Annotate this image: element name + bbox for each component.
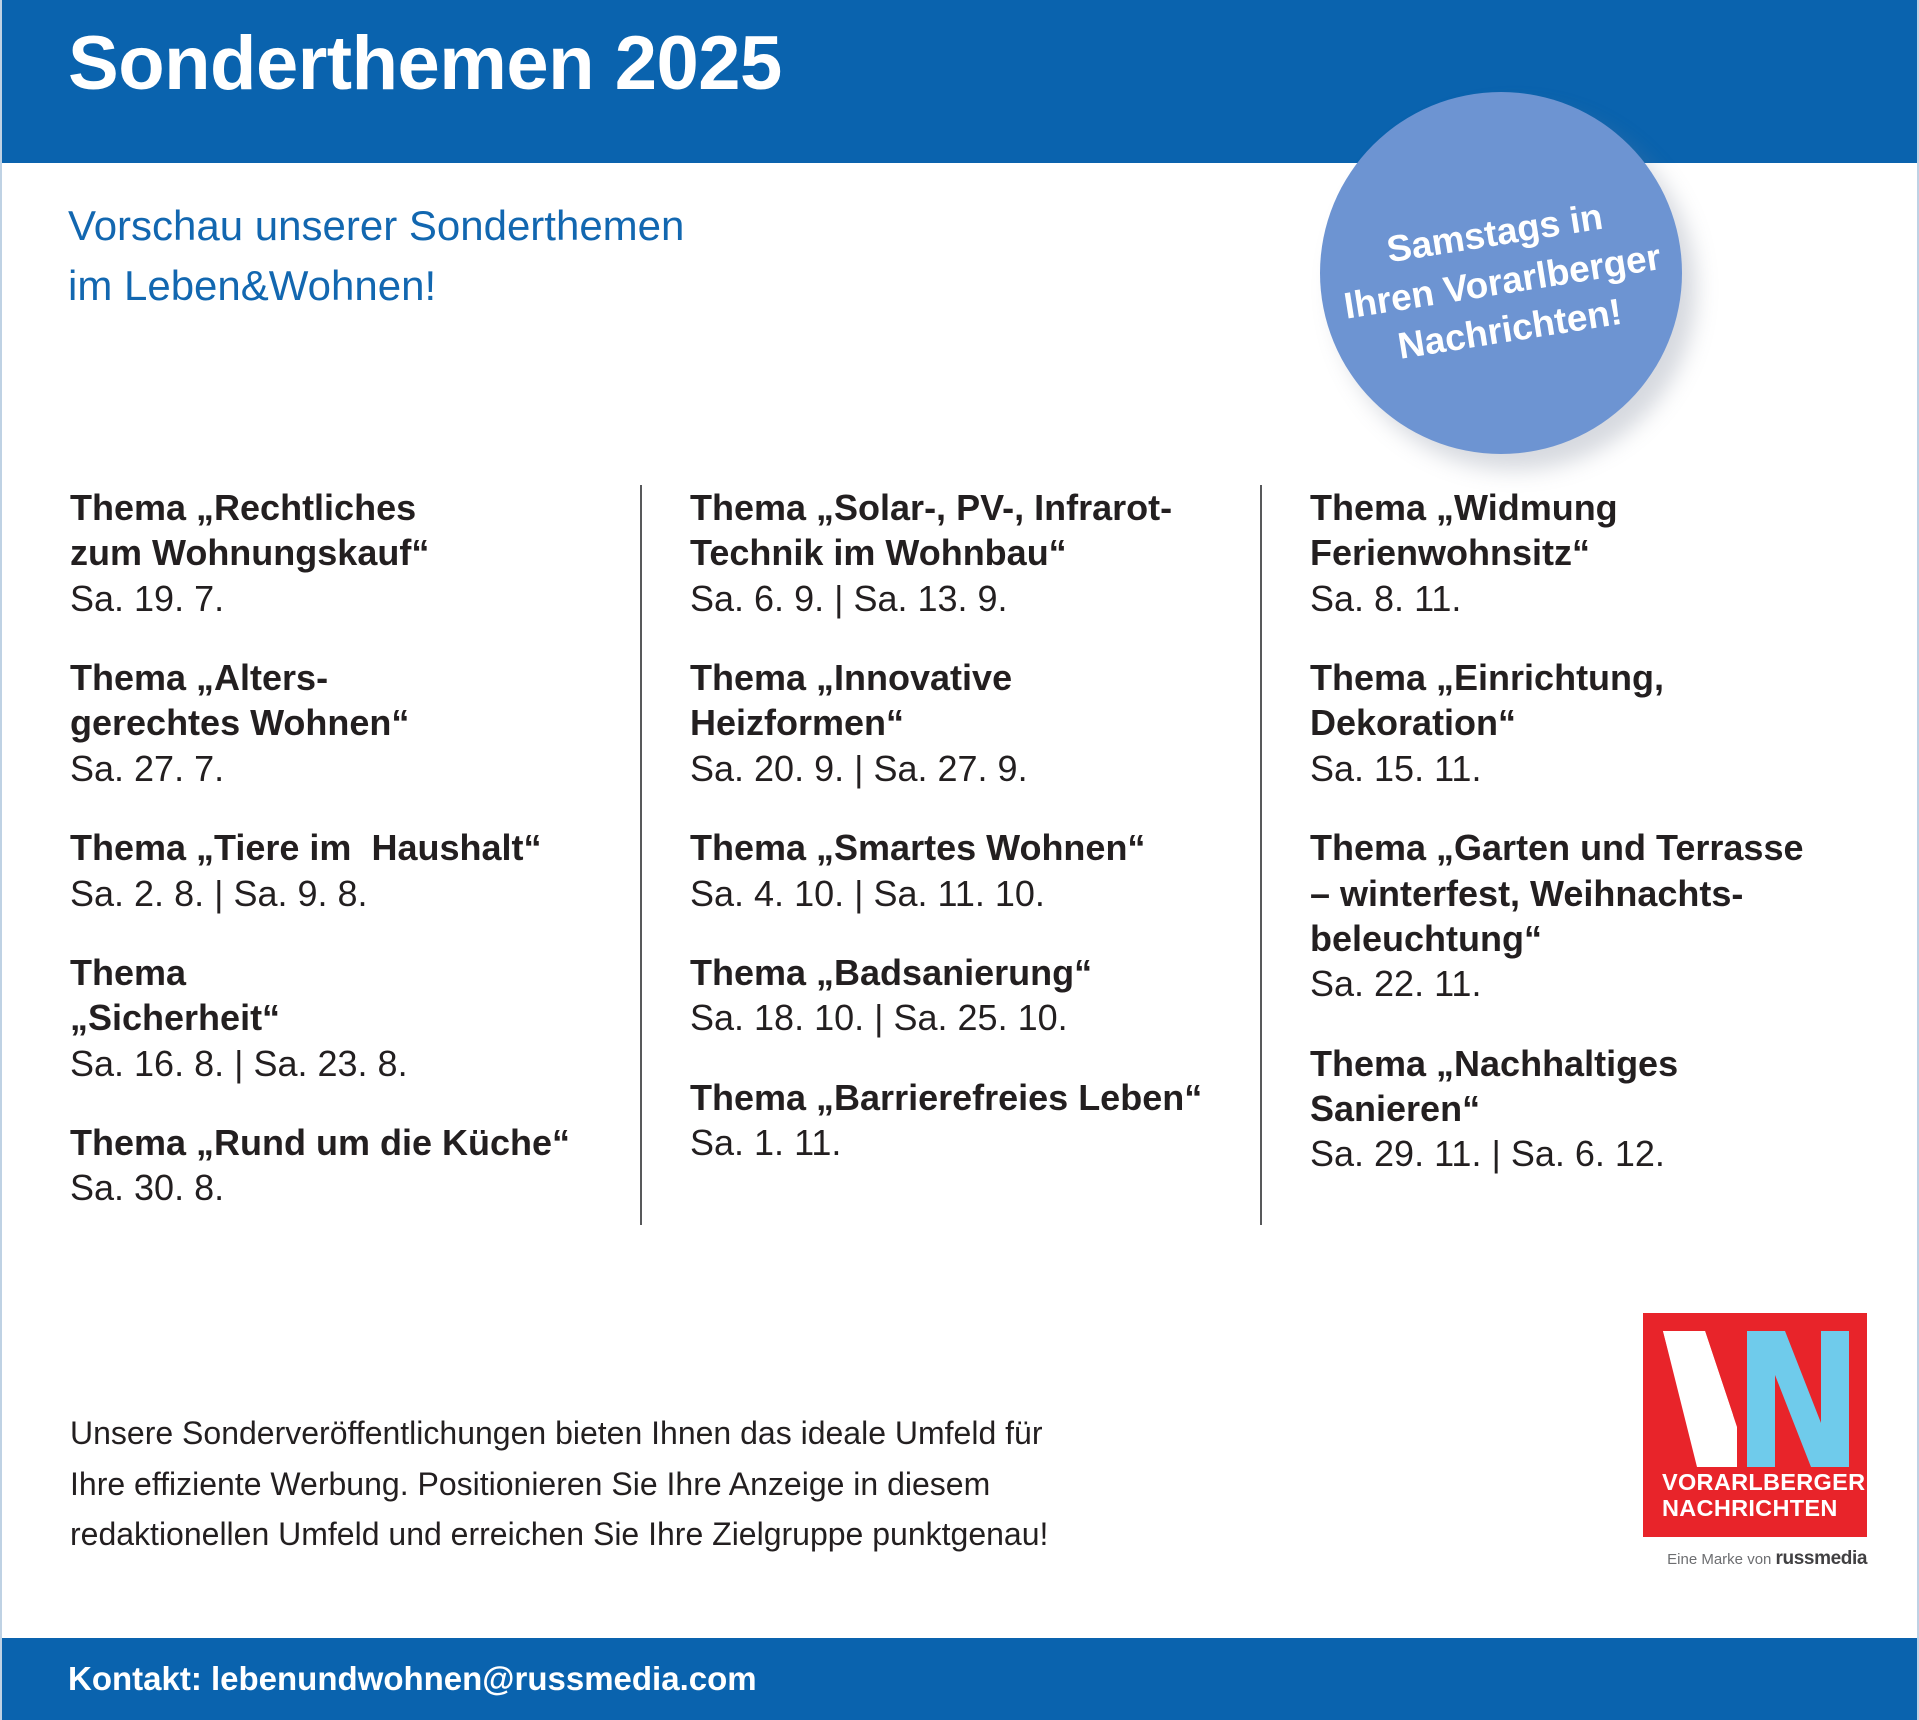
topics-grid: Thema „Rechtliches zum Wohnungskauf“ Sa.… <box>0 485 1919 1230</box>
topic-date: Sa. 18. 10. | Sa. 25. 10. <box>690 995 1235 1040</box>
subtitle: Vorschau unserer Sonderthemen im Leben&W… <box>68 196 684 315</box>
topic-item: Thema „Rund um die Küche“ Sa. 30. 8. <box>70 1120 615 1211</box>
topic-date: Sa. 19. 7. <box>70 576 615 621</box>
russmedia-tagline: Eine Marke von russmedia <box>1643 1548 1867 1570</box>
column-divider-2 <box>1260 485 1262 1225</box>
topic-title: Thema „Innovative Heizformen“ <box>690 655 1235 746</box>
topic-date: Sa. 15. 11. <box>1310 746 1880 791</box>
topic-column-1: Thema „Rechtliches zum Wohnungskauf“ Sa.… <box>70 485 615 1211</box>
promo-line-2: Ihre effiziente Werbung. Positionieren S… <box>70 1459 1230 1510</box>
topic-item: Thema „Nachhaltiges Sanieren“ Sa. 29. 11… <box>1310 1041 1880 1177</box>
topic-item: Thema „Innovative Heizformen“ Sa. 20. 9.… <box>690 655 1235 791</box>
topic-title: Thema „Solar-, PV-, Infrarot- Technik im… <box>690 485 1235 576</box>
topic-item: Thema „Widmung Ferienwohnsitz“ Sa. 8. 11… <box>1310 485 1880 621</box>
topic-item: Thema „Solar-, PV-, Infrarot- Technik im… <box>690 485 1235 621</box>
promo-line-3: redaktionellen Umfeld und erreichen Sie … <box>70 1509 1230 1560</box>
saturday-badge: Samstags in Ihren Vorarlberger Nachricht… <box>1320 92 1682 454</box>
topic-title: Thema „Alters- gerechtes Wohnen“ <box>70 655 615 746</box>
topic-title: Thema „Badsanierung“ <box>690 950 1235 995</box>
vn-logo: VORARLBERGER NACHRICHTEN Eine Marke von … <box>1643 1313 1867 1570</box>
topic-item: Thema „Garten und Terrasse – winterfest,… <box>1310 825 1880 1006</box>
topic-item: Thema „Tiere im Haushalt“ Sa. 2. 8. | Sa… <box>70 825 615 916</box>
topic-date: Sa. 20. 9. | Sa. 27. 9. <box>690 746 1235 791</box>
topic-title: Thema „Widmung Ferienwohnsitz“ <box>1310 485 1880 576</box>
topic-date: Sa. 1. 11. <box>690 1120 1235 1165</box>
topic-title: Thema „Sicherheit“ <box>70 950 615 1041</box>
topic-date: Sa. 2. 8. | Sa. 9. 8. <box>70 871 615 916</box>
sonderthemen-poster: Sonderthemen 2025 Vorschau unserer Sonde… <box>0 0 1919 1720</box>
promo-line-1: Unsere Sonderveröffentlichungen bieten I… <box>70 1408 1230 1459</box>
topic-date: Sa. 8. 11. <box>1310 576 1880 621</box>
promo-paragraph: Unsere Sonderveröffentlichungen bieten I… <box>70 1408 1230 1560</box>
topic-title: Thema „Rechtliches zum Wohnungskauf“ <box>70 485 615 576</box>
footer-bar: Kontakt: lebenundwohnen@russmedia.com <box>0 1638 1919 1720</box>
topic-date: Sa. 29. 11. | Sa. 6. 12. <box>1310 1131 1880 1176</box>
topic-item: Thema „Badsanierung“ Sa. 18. 10. | Sa. 2… <box>690 950 1235 1041</box>
topic-item: Thema „Rechtliches zum Wohnungskauf“ Sa.… <box>70 485 615 621</box>
topic-date: Sa. 6. 9. | Sa. 13. 9. <box>690 576 1235 621</box>
topic-title: Thema „Rund um die Küche“ <box>70 1120 615 1165</box>
topic-column-2: Thema „Solar-, PV-, Infrarot- Technik im… <box>690 485 1235 1165</box>
topic-title: Thema „Barrierefreies Leben“ <box>690 1075 1235 1120</box>
vn-logo-square: VORARLBERGER NACHRICHTEN <box>1643 1313 1867 1537</box>
topic-date: Sa. 30. 8. <box>70 1165 615 1210</box>
topic-title: Thema „Einrichtung, Dekoration“ <box>1310 655 1880 746</box>
vn-logo-wordmark: VORARLBERGER NACHRICHTEN <box>1662 1469 1852 1522</box>
topic-item: Thema „Einrichtung, Dekoration“ Sa. 15. … <box>1310 655 1880 791</box>
topic-date: Sa. 4. 10. | Sa. 11. 10. <box>690 871 1235 916</box>
topic-title: Thema „Smartes Wohnen“ <box>690 825 1235 870</box>
page-title: Sonderthemen 2025 <box>68 26 782 102</box>
topic-item: Thema „Sicherheit“ Sa. 16. 8. | Sa. 23. … <box>70 950 615 1086</box>
topic-date: Sa. 27. 7. <box>70 746 615 791</box>
column-divider-1 <box>640 485 642 1225</box>
topic-title: Thema „Tiere im Haushalt“ <box>70 825 615 870</box>
topic-date: Sa. 22. 11. <box>1310 961 1880 1006</box>
topic-date: Sa. 16. 8. | Sa. 23. 8. <box>70 1041 615 1086</box>
saturday-badge-text: Samstags in Ihren Vorarlberger Nachricht… <box>1294 66 1708 480</box>
topic-column-3: Thema „Widmung Ferienwohnsitz“ Sa. 8. 11… <box>1310 485 1880 1177</box>
topic-title: Thema „Nachhaltiges Sanieren“ <box>1310 1041 1880 1132</box>
topic-title: Thema „Garten und Terrasse – winterfest,… <box>1310 825 1880 961</box>
topic-item: Thema „Barrierefreies Leben“ Sa. 1. 11. <box>690 1075 1235 1166</box>
contact-email[interactable]: Kontakt: lebenundwohnen@russmedia.com <box>68 1660 757 1698</box>
topic-item: Thema „Alters- gerechtes Wohnen“ Sa. 27.… <box>70 655 615 791</box>
vn-logo-line-2: NACHRICHTEN <box>1662 1495 1852 1521</box>
vn-logo-line-1: VORARLBERGER <box>1662 1469 1852 1495</box>
topic-item: Thema „Smartes Wohnen“ Sa. 4. 10. | Sa. … <box>690 825 1235 916</box>
vn-monogram-icon <box>1661 1331 1849 1467</box>
tagline-prefix: Eine Marke von <box>1667 1551 1775 1568</box>
subtitle-line-2: im Leben&Wohnen! <box>68 256 684 316</box>
subtitle-line-1: Vorschau unserer Sonderthemen <box>68 196 684 256</box>
tagline-brand: russmedia <box>1776 1548 1867 1569</box>
